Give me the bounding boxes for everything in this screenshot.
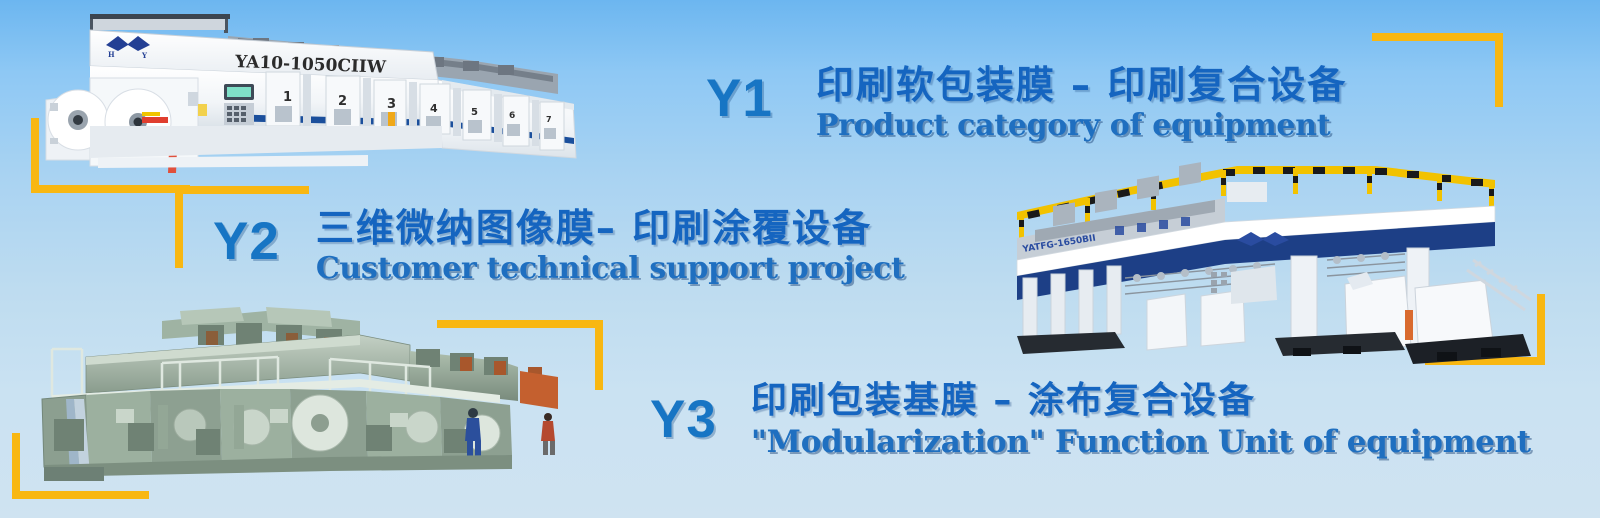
svg-text:6: 6 [509, 111, 515, 121]
row-y3-subtitle-en: "Modularization" Function Unit of equipm… [751, 427, 1531, 458]
svg-text:7: 7 [546, 115, 552, 124]
svg-text:4: 4 [430, 102, 438, 115]
row-y2-subtitle-en: Customer technical support project [316, 254, 905, 284]
machine-rotogravure-printing-press: H Y YA10-1050CIIW [38, 8, 598, 178]
svg-text:3: 3 [387, 97, 396, 112]
svg-text:H: H [108, 50, 115, 59]
row-y3-texts: 印刷包装基膜 – 涂布复合设备 "Modularization" Functio… [751, 383, 1531, 458]
row-y1-code: Y1 [706, 72, 773, 125]
row-y2-title-cn: 三维微纳图像膜– 印刷涂覆设备 [316, 209, 905, 247]
svg-text:1: 1 [283, 90, 292, 105]
row-y3: Y3 印刷包装基膜 – 涂布复合设备 "Modularization" Func… [650, 383, 1531, 458]
machine-base-film-coating-line [30, 305, 575, 485]
row-y3-title-cn: 印刷包装基膜 – 涂布复合设备 [751, 383, 1531, 419]
svg-text:Y: Y [141, 51, 148, 60]
row-y3-code: Y3 [650, 393, 717, 446]
row-y2: Y2 三维微纳图像膜– 印刷涂覆设备 Customer technical su… [213, 209, 905, 284]
promo-banner: H Y YA10-1050CIIW [0, 0, 1600, 518]
row-y2-code: Y2 [213, 215, 280, 268]
bracket-top-right [1372, 33, 1503, 107]
operator-figure-2 [541, 413, 555, 455]
row-y1: Y1 印刷软包装膜 – 印刷复合设备 Product category of e… [706, 66, 1347, 141]
machine-coating-laminating: YATFG-1650BII [975, 160, 1545, 370]
row-y1-title-cn: 印刷软包装膜 – 印刷复合设备 [816, 66, 1347, 104]
svg-text:2: 2 [338, 94, 347, 109]
row-y1-texts: 印刷软包装膜 – 印刷复合设备 Product category of equi… [816, 66, 1347, 141]
row-y2-texts: 三维微纳图像膜– 印刷涂覆设备 Customer technical suppo… [316, 209, 905, 284]
row-y1-subtitle-en: Product category of equipment [816, 111, 1347, 141]
svg-text:5: 5 [471, 107, 478, 118]
